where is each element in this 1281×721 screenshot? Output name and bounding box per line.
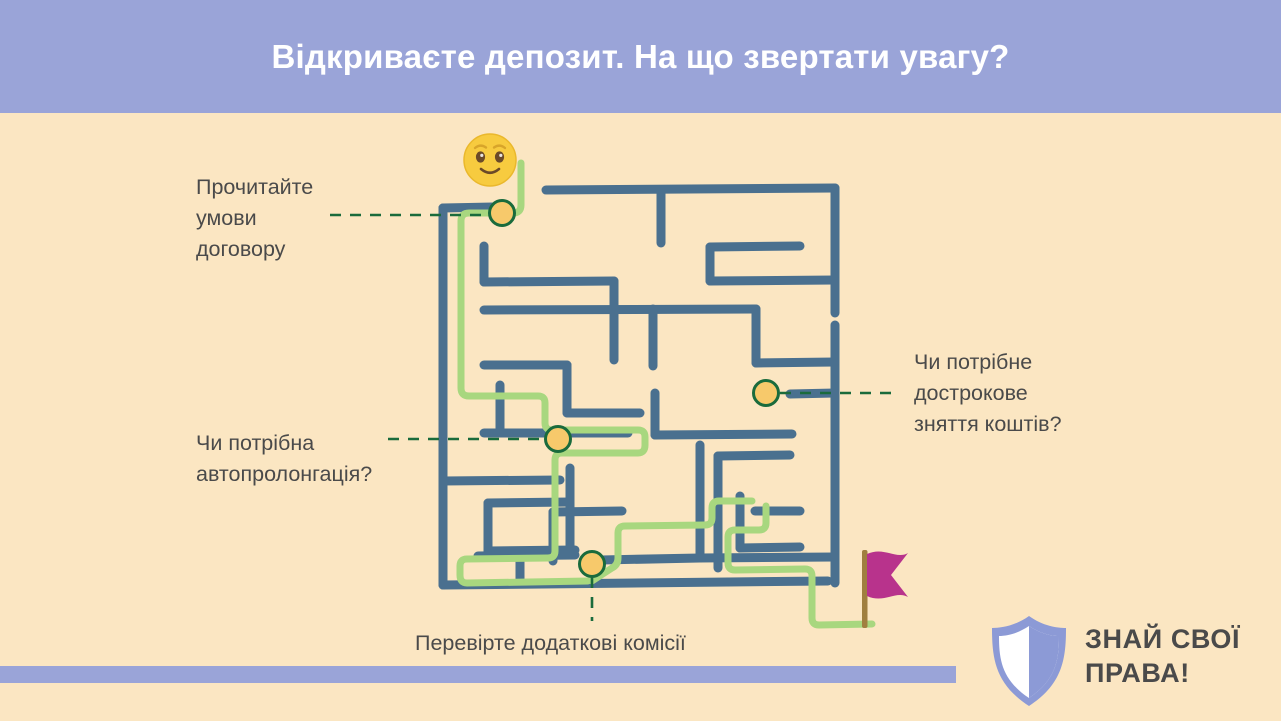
marker-fees bbox=[580, 552, 605, 577]
footer-accent-bar bbox=[0, 666, 956, 683]
infographic-canvas: Відкриваєте депозит. На що звертати уваг… bbox=[0, 0, 1281, 721]
marker-auto-prolongation bbox=[546, 427, 571, 452]
maze-markers bbox=[490, 201, 779, 577]
smiley-face-emoji bbox=[464, 134, 516, 186]
callout-label-auto-prolongation: Чи потрібна автопролонгація? bbox=[196, 428, 456, 490]
page-title: Відкриваєте депозит. На що звертати уваг… bbox=[0, 0, 1281, 113]
shield-icon bbox=[985, 612, 1073, 710]
callout-label-fees: Перевірте додаткові комісії bbox=[415, 628, 795, 659]
marker-terms bbox=[490, 201, 515, 226]
finish-flag-icon bbox=[862, 550, 908, 628]
brand-logo: ЗНАЙ СВОЇ ПРАВА! bbox=[985, 608, 1275, 716]
callout-label-terms: Прочитайте умови договору bbox=[196, 172, 426, 265]
callout-label-early-withdrawal: Чи потрібне дострокове зняття коштів? bbox=[914, 347, 1174, 440]
marker-early-withdrawal bbox=[754, 381, 779, 406]
logo-text: ЗНАЙ СВОЇ ПРАВА! bbox=[1085, 622, 1240, 690]
